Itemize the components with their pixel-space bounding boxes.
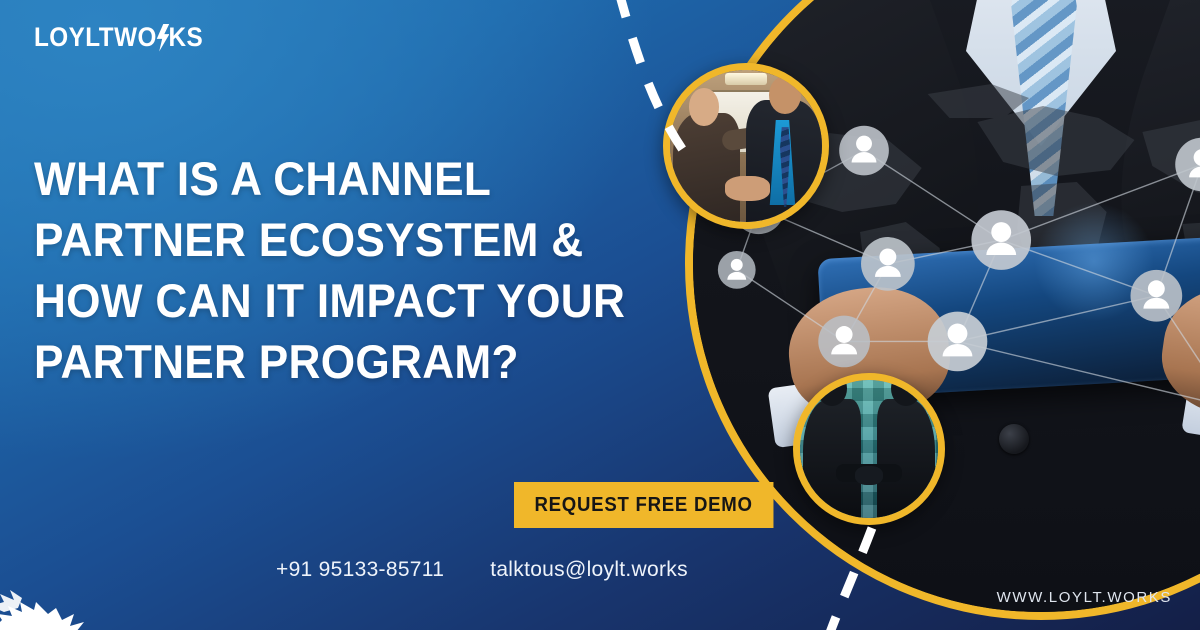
ceiling-light (725, 73, 768, 85)
contact-info: +91 95133-85711 talktous@loylt.works (276, 558, 688, 582)
email-address[interactable]: talktous@loylt.works (490, 558, 688, 582)
website-url[interactable]: WWW.LOYLT.WORKS (997, 589, 1172, 606)
inset-photo-office-handshake (663, 63, 829, 229)
silhouette-left (803, 399, 861, 518)
businessman-left (673, 113, 740, 222)
businessman-right (746, 100, 822, 222)
silhouette-right (877, 399, 935, 518)
headline-line-2: PARTNER ECOSYSTEM & (34, 209, 662, 270)
brand-logo[interactable]: LOYLTWO KS (34, 22, 203, 53)
logo-text-part1: LOYLTWO (34, 22, 157, 53)
request-free-demo-button[interactable]: REQUEST FREE DEMO (514, 482, 773, 528)
white-brush-stroke (0, 558, 112, 630)
phone-number[interactable]: +91 95133-85711 (276, 558, 444, 582)
inset-photo-city-handshake (793, 373, 945, 525)
silhouette-handshake (855, 466, 883, 485)
marketing-banner: LOYLTWO KS WHAT IS A CHANNEL PARTNER ECO… (0, 0, 1200, 630)
headline-line-4: PARTNER PROGRAM? (34, 331, 662, 392)
lightning-bolt-r-icon (156, 24, 169, 52)
handshake (725, 176, 771, 200)
headline-line-3: HOW CAN IT IMPACT YOUR (34, 270, 662, 331)
page-title: WHAT IS A CHANNEL PARTNER ECOSYSTEM & HO… (34, 148, 662, 392)
logo-text-part2: KS (169, 22, 204, 53)
headline-line-1: WHAT IS A CHANNEL (34, 148, 662, 209)
